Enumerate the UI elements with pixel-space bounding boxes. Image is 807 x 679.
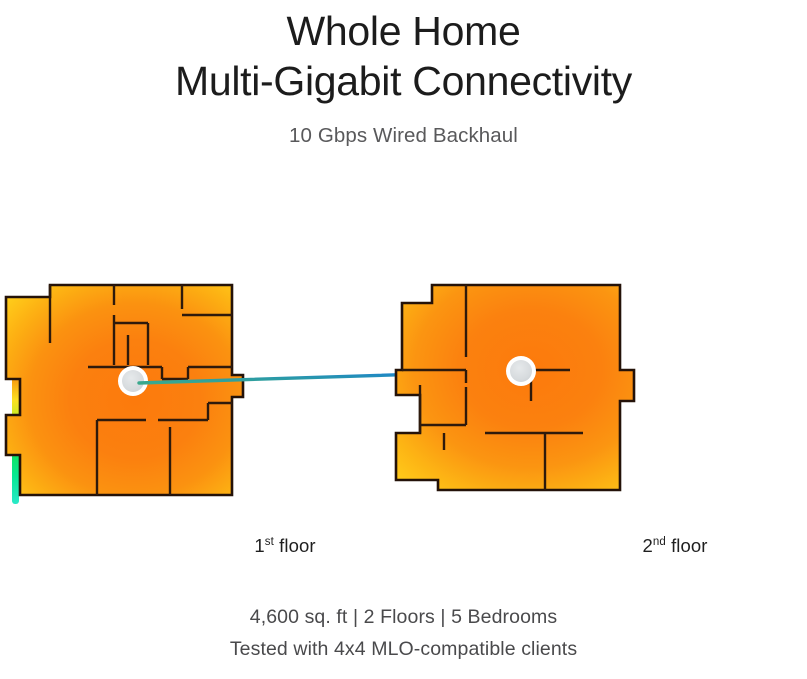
heatmap-floor-2 xyxy=(380,275,660,510)
mesh-node-floor-1[interactable] xyxy=(118,366,148,396)
floor-2-number: 2 xyxy=(642,535,652,556)
floor-2-ordinal: nd xyxy=(653,536,666,548)
page-title: Whole Home Multi-Gigabit Connectivity xyxy=(0,0,807,106)
floor-2-caption: 2nd floor xyxy=(565,535,785,557)
footer-test-note-line: Tested with 4x4 MLO-compatible clients xyxy=(0,634,807,666)
footer: 4,600 sq. ft | 2 Floors | 5 Bedrooms Tes… xyxy=(0,602,807,665)
mesh-node-floor-2[interactable] xyxy=(506,356,536,386)
floor-2-suffix: floor xyxy=(666,535,708,556)
floor-plan-diagram xyxy=(0,275,807,530)
floor-plan-2 xyxy=(380,275,660,510)
floor-1-ordinal: st xyxy=(265,536,274,548)
floor-1-caption: 1st floor xyxy=(175,535,395,557)
footer-specs-line: 4,600 sq. ft | 2 Floors | 5 Bedrooms xyxy=(0,602,807,634)
floor-plan-1 xyxy=(0,275,260,510)
header: Whole Home Multi-Gigabit Connectivity 10… xyxy=(0,0,807,148)
floor-1-suffix: floor xyxy=(274,535,316,556)
floor-1-number: 1 xyxy=(254,535,264,556)
title-line-2: Multi-Gigabit Connectivity xyxy=(0,56,807,106)
title-line-1: Whole Home xyxy=(0,6,807,56)
page-subtitle: 10 Gbps Wired Backhaul xyxy=(0,106,807,148)
